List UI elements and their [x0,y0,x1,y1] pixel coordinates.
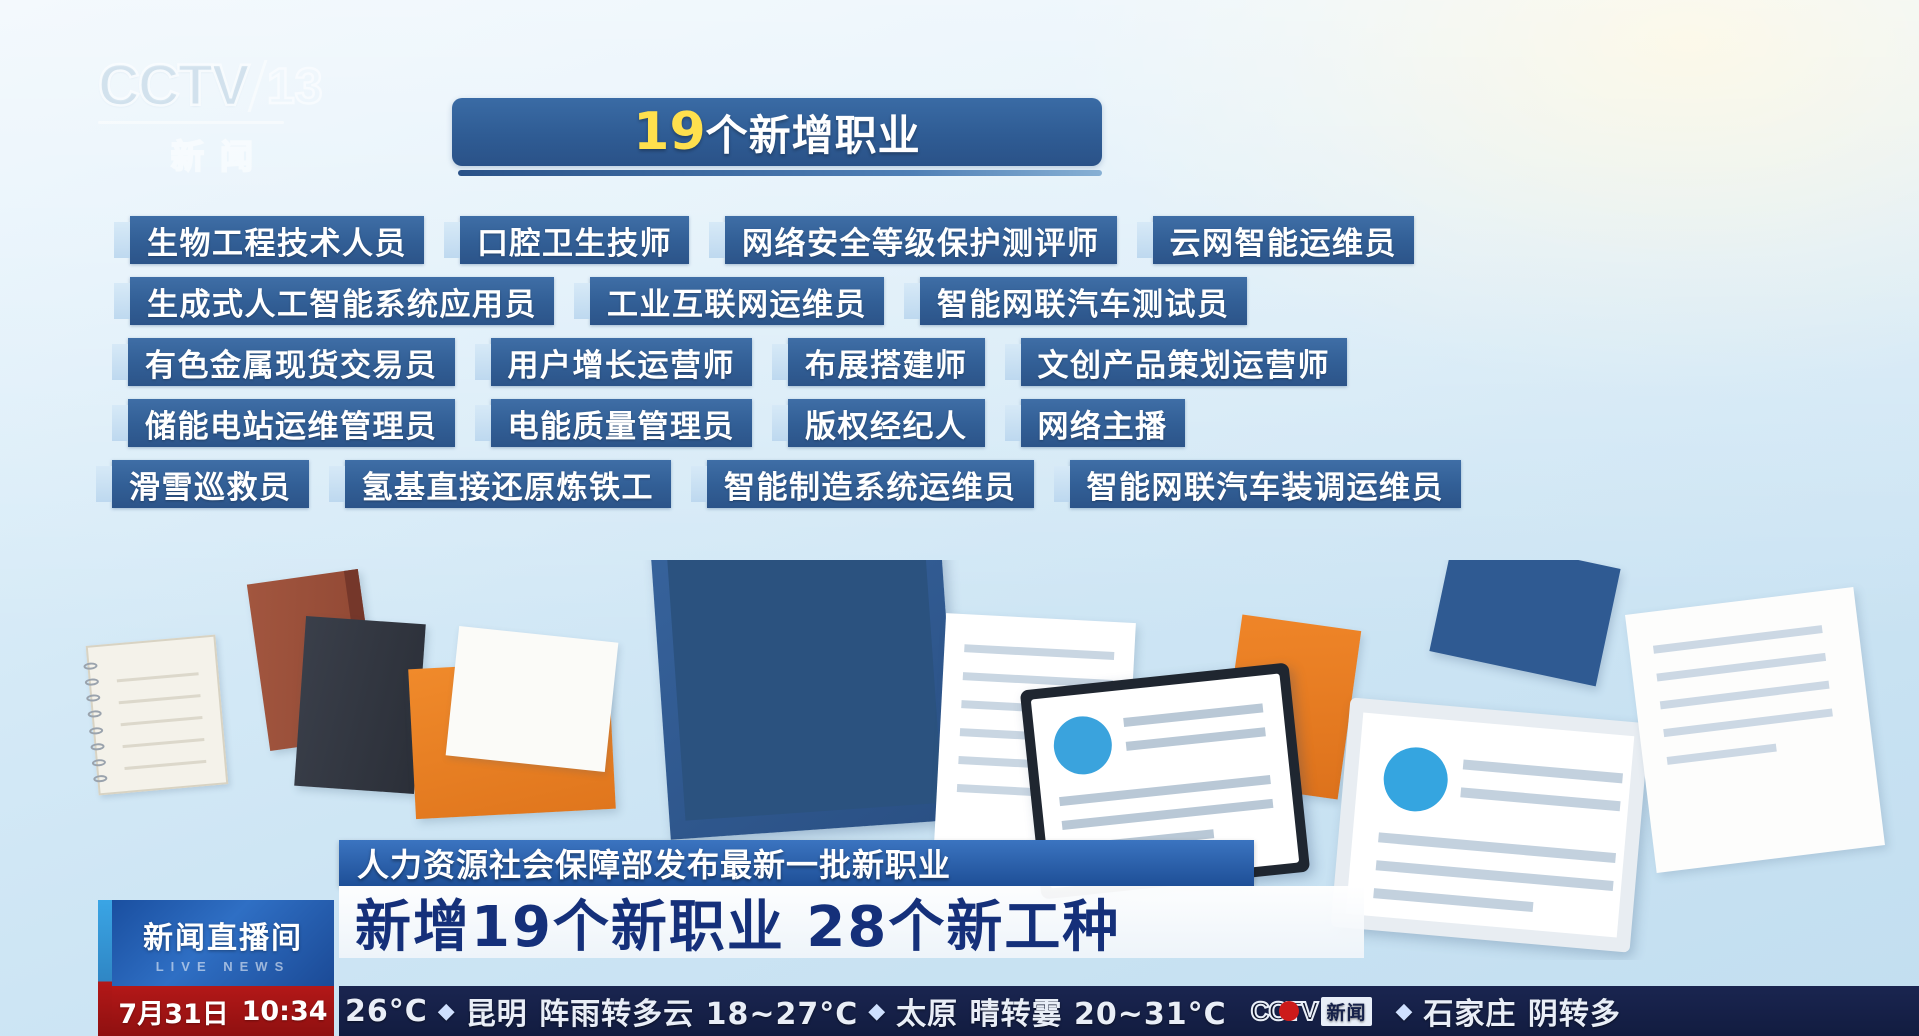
job-tag-label: 云网智能运维员 [1170,218,1398,263]
headline-banner: 19个新增职业 [452,98,1102,166]
dark-book-icon [294,616,426,794]
cctv-logo-row: CCTV 13 [98,52,328,119]
spiral-notebook-icon [86,635,229,796]
job-tag: 生物工程技术人员 [130,216,424,264]
job-tag-label: 网络主播 [1038,401,1168,446]
job-tag-label: 储能电站运维管理员 [145,401,438,446]
job-tag-label: 有色金属现货交易员 [145,340,438,385]
job-tag: 智能网联汽车测试员 [920,277,1247,325]
tag-row: 生物工程技术人员 口腔卫生技师 网络安全等级保护测评师 云网智能运维员 [0,216,1919,264]
datetime-block: 7月31日 10:34 [112,986,334,1036]
station-bug: 新闻直播间 LIVE NEWS 7月31日 10:34 [112,900,334,1036]
cctv-channel-logo: CCTV 13 新闻 [98,52,328,182]
job-tag: 电能质量管理员 [491,399,753,447]
job-tag-label: 智能制造系统运维员 [724,462,1017,507]
blue-board-icon [650,560,960,840]
white-paper-icon [446,626,619,772]
cctv-logo-subtitle: 新闻 [98,130,328,178]
cctv-wordmark: CCTV [98,52,248,119]
broadcast-date: 7月31日 [118,992,228,1031]
cctv-red-dot-icon [1279,1001,1299,1021]
ticker-content: 26°C ◆ 昆明 阵雨转多云 18~27°C ◆ 太原 晴转霎 20~31°C… [339,989,1621,1033]
job-tag: 网络安全等级保护测评师 [725,216,1117,264]
job-tag: 布展搭建师 [788,338,985,386]
job-tag-label: 电能质量管理员 [508,401,736,446]
cctv-badge-label: 新闻 [1321,997,1371,1026]
blue-strip-decoration [1429,560,1620,686]
headline-underline [458,170,1102,176]
job-tag: 云网智能运维员 [1153,216,1415,264]
cctv-underline [98,121,284,124]
cctv-channel-number: 13 [267,57,323,115]
job-tag: 网络主播 [1021,399,1185,447]
job-tag: 版权经纪人 [788,399,985,447]
white-paper-icon [1625,587,1885,873]
job-tag-label: 文创产品策划运营师 [1038,340,1331,385]
job-tag-label: 生物工程技术人员 [147,218,407,263]
ticker-diamond-icon: ◆ [868,999,886,1024]
job-tag-label: 口腔卫生技师 [477,218,672,263]
tag-row: 有色金属现货交易员 用户增长运营师 布展搭建师 文创产品策划运营师 [0,338,1919,386]
chyron-headline-bar: 新增19个新职业 28个新工种 [339,886,1364,958]
job-tag-label: 用户增长运营师 [508,340,736,385]
headline-count: 19 [633,102,705,162]
broadcast-time: 10:34 [242,996,328,1027]
program-name-block: 新闻直播间 LIVE NEWS [112,900,334,986]
program-name-en: LIVE NEWS [156,959,291,974]
job-tag-label: 智能网联汽车装调运维员 [1087,462,1445,507]
job-tag: 滑雪巡救员 [112,460,309,508]
job-tag: 用户增长运营师 [491,338,753,386]
station-bug-accent [98,900,112,1036]
job-tag: 氢基直接还原炼铁工 [345,460,672,508]
avatar-icon [1381,745,1450,814]
tag-row: 生成式人工智能系统应用员 工业互联网运维员 智能网联汽车测试员 [0,277,1919,325]
tablet-device-icon [1331,697,1650,952]
avatar-icon [1051,714,1115,778]
job-tag-label: 生成式人工智能系统应用员 [147,279,537,324]
job-tag: 口腔卫生技师 [460,216,689,264]
chyron-headline-text: 新增19个新职业 28个新工种 [339,882,1120,963]
job-tag-label: 网络安全等级保护测评师 [742,218,1100,263]
ticker-diamond-icon: ◆ [438,999,456,1024]
chyron-topic-text: 人力资源社会保障部发布最新一批新职业 [339,840,951,886]
notebook-rings [83,657,108,788]
cctv-news-badge: CCTV 新闻 [1251,996,1372,1027]
chyron-topic-bar: 人力资源社会保障部发布最新一批新职业 [339,840,1254,886]
ticker-diamond-icon: ◆ [1396,999,1414,1024]
headline-suffix: 个新增职业 [706,102,921,163]
tag-row: 储能电站运维管理员 电能质量管理员 版权经纪人 网络主播 [0,399,1919,447]
job-tag-label: 工业互联网运维员 [607,279,867,324]
job-tag: 储能电站运维管理员 [128,399,455,447]
job-tag-label: 氢基直接还原炼铁工 [362,462,655,507]
job-tag: 智能网联汽车装调运维员 [1070,460,1462,508]
program-name-cn: 新闻直播间 [143,913,303,957]
job-tag-grid: 生物工程技术人员 口腔卫生技师 网络安全等级保护测评师 云网智能运维员 生成式人… [0,216,1919,521]
tablet-screen [1346,713,1635,938]
weather-ticker: 26°C ◆ 昆明 阵雨转多云 18~27°C ◆ 太原 晴转霎 20~31°C… [339,986,1919,1036]
ticker-segment: 26°C [345,994,428,1029]
job-tag: 文创产品策划运营师 [1021,338,1348,386]
job-tag-label: 布展搭建师 [805,340,968,385]
job-tag: 智能制造系统运维员 [707,460,1034,508]
ticker-tail-segment: 石家庄 阴转多 [1423,989,1620,1033]
tag-row: 滑雪巡救员 氢基直接还原炼铁工 智能制造系统运维员 智能网联汽车装调运维员 [0,460,1919,508]
job-tag-label: 滑雪巡救员 [129,462,292,507]
job-tag-label: 版权经纪人 [805,401,968,446]
cctv-slash-divider [247,60,267,112]
job-tag-label: 智能网联汽车测试员 [937,279,1230,324]
job-tag: 工业互联网运维员 [590,277,884,325]
job-tag: 有色金属现货交易员 [128,338,455,386]
ticker-segment: 太原 晴转霎 20~31°C [896,989,1227,1033]
ticker-segment: 昆明 阵雨转多云 18~27°C [466,989,859,1033]
job-tag: 生成式人工智能系统应用员 [130,277,554,325]
